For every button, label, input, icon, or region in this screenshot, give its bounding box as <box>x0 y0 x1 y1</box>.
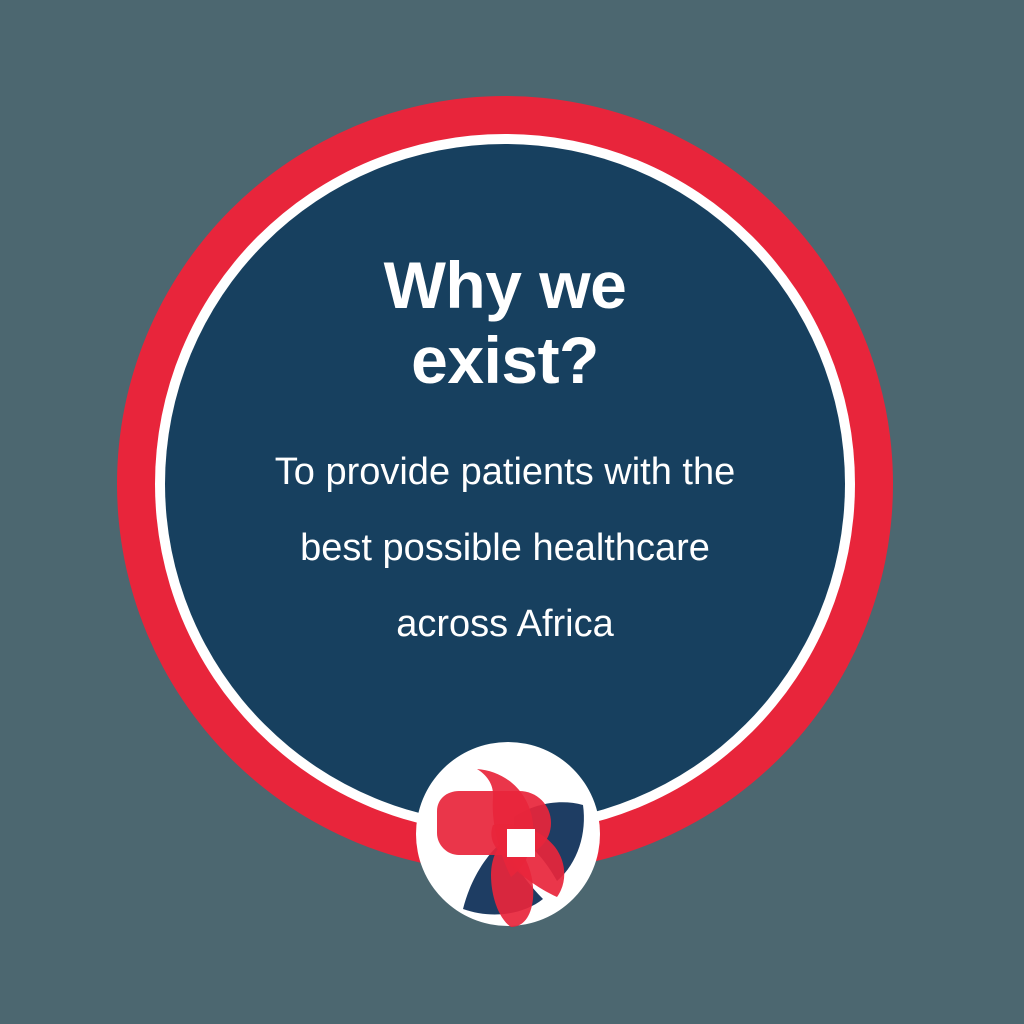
logo-center-void <box>507 829 535 857</box>
inner-navy-disc <box>165 144 845 824</box>
badge-canvas: Why we exist? To provide patients with t… <box>0 0 1024 1024</box>
pinwheel-cross-logo <box>415 741 601 927</box>
